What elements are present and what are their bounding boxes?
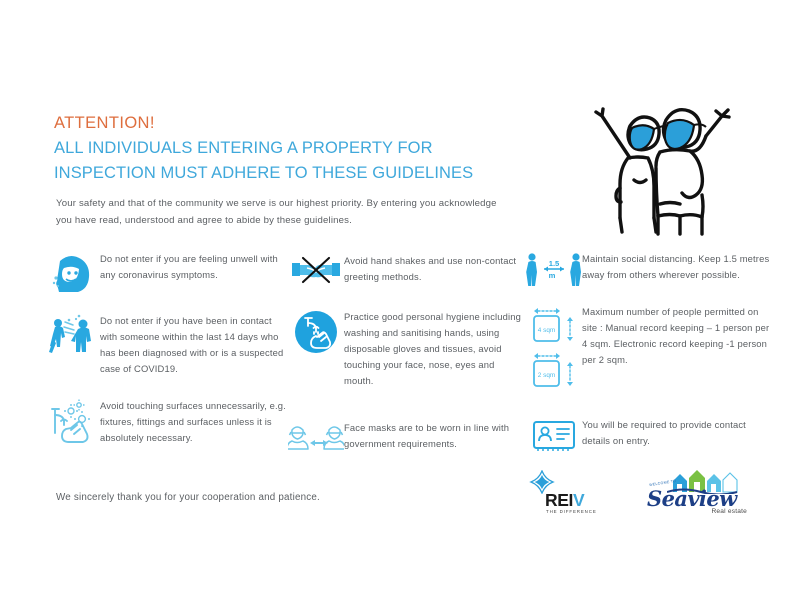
guideline-text: Do not enter if you are feeling unwell w… xyxy=(100,250,288,283)
two-people-wearing-masks-illustration xyxy=(556,96,744,238)
guideline-text: Maximum number of people permitted on si… xyxy=(582,303,772,368)
guideline-item: Do not enter if you are feeling unwell w… xyxy=(44,250,288,294)
person-to-person-transmission-icon xyxy=(44,312,100,356)
seaview-subtitle: Real estate xyxy=(711,508,747,515)
reiv-word-dark: REI xyxy=(545,490,573,510)
guidelines-column-1: Do not enter if you are feeling unwell w… xyxy=(44,246,288,453)
heading-line-1: ALL INDIVIDUALS ENTERING A PROPERTY FOR xyxy=(54,136,534,161)
coughing-person-icon xyxy=(44,250,100,294)
guideline-text: Practice good personal hygiene including… xyxy=(344,308,526,389)
guidelines-column-3: 1.5 m Maintain social distancing. Keep 1… xyxy=(526,246,772,453)
seaview-logo: WELCOME TO Seaview Real estate xyxy=(639,468,751,518)
logo-row: REIV THE DIFFERENCE WELCOME TO Seaview R… xyxy=(527,468,751,518)
guideline-item: Avoid hand shakes and use non-contact gr… xyxy=(288,252,526,290)
guideline-text: Face masks are to be worn in line with g… xyxy=(344,419,526,452)
guideline-item: 4 sqm 2 sqm Maximum number of people per… xyxy=(526,303,772,391)
guidelines-column-2: Avoid hand shakes and use non-contact gr… xyxy=(288,246,526,453)
guideline-text: Maintain social distancing. Keep 1.5 met… xyxy=(582,250,772,283)
reiv-logo: REIV THE DIFFERENCE xyxy=(527,470,613,518)
guideline-item: Face masks are to be worn in line with g… xyxy=(288,419,526,453)
floor-area-sqm-icon: 4 sqm 2 sqm xyxy=(526,303,582,391)
no-handshake-icon xyxy=(288,252,344,290)
wash-hands-circle-icon xyxy=(288,308,344,354)
area-label-top: 4 sqm xyxy=(538,327,555,334)
intro-paragraph: Your safety and that of the community we… xyxy=(56,196,578,229)
heading-line-2: INSPECTION MUST ADHERE TO THESE GUIDELIN… xyxy=(54,161,534,186)
hand-touching-tap-germs-icon xyxy=(44,397,100,443)
social-distancing-1-5m-icon: 1.5 m xyxy=(526,250,582,286)
headline-block: ATTENTION! ALL INDIVIDUALS ENTERING A PR… xyxy=(54,112,534,186)
reiv-wordmark: REIV xyxy=(545,490,584,511)
area-label-bottom: 2 sqm xyxy=(538,372,555,379)
guideline-text: You will be required to provide contact … xyxy=(582,416,772,449)
guideline-item: You will be required to provide contact … xyxy=(526,416,772,452)
reiv-tagline: THE DIFFERENCE xyxy=(546,509,597,514)
guideline-text: Avoid hand shakes and use non-contact gr… xyxy=(344,252,526,285)
guideline-text: Avoid touching surfaces unnecessarily, e… xyxy=(100,397,288,446)
id-card-contact-details-icon xyxy=(526,416,582,452)
guideline-item: Do not enter if you have been in contact… xyxy=(44,312,288,377)
intro-line-2: you have read, understood and agree to a… xyxy=(56,213,578,230)
intro-line-1: Your safety and that of the community we… xyxy=(56,196,578,213)
attention-label: ATTENTION! xyxy=(54,112,534,136)
guidelines-columns: Do not enter if you are feeling unwell w… xyxy=(44,246,772,453)
distance-unit: m xyxy=(549,271,556,280)
covid-inspection-guidelines-poster: ATTENTION! ALL INDIVIDUALS ENTERING A PR… xyxy=(0,0,800,600)
distance-value: 1.5 xyxy=(549,259,560,268)
two-masked-faces-distance-icon xyxy=(288,419,344,453)
guideline-item: 1.5 m Maintain social distancing. Keep 1… xyxy=(526,250,772,286)
guideline-text: Do not enter if you have been in contact… xyxy=(100,312,288,377)
thank-you-text: We sincerely thank you for your cooperat… xyxy=(56,492,320,503)
guideline-item: Avoid touching surfaces unnecessarily, e… xyxy=(44,397,288,446)
reiv-word-accent: V xyxy=(573,490,584,510)
guideline-item: Practice good personal hygiene including… xyxy=(288,308,526,389)
